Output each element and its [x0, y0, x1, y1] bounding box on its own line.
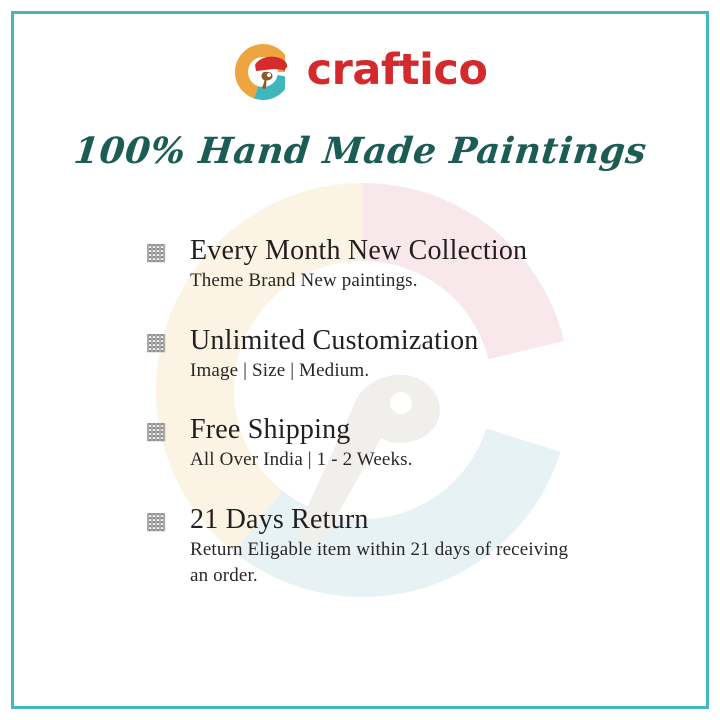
page-title-text: 100% Hand Made Paintings — [72, 130, 649, 172]
list-item: Free Shipping All Over India | 1 - 2 Wee… — [146, 413, 616, 473]
brand-header: craftico — [0, 34, 720, 110]
list-item-subtitle: Theme Brand New paintings. — [190, 268, 570, 294]
list-item-subtitle: Return Eligable item within 21 days of r… — [190, 537, 570, 588]
woven-grid-square-icon — [146, 333, 166, 353]
woven-grid-square-icon — [146, 243, 166, 263]
list-item-title: Unlimited Customization — [190, 324, 616, 357]
list-item-title: 21 Days Return — [190, 503, 616, 536]
list-item-title: Free Shipping — [190, 413, 616, 446]
list-item: Every Month New Collection Theme Brand N… — [146, 234, 616, 294]
list-item-subtitle: All Over India | 1 - 2 Weeks. — [190, 447, 570, 473]
list-item-title: Every Month New Collection — [190, 234, 616, 267]
woven-grid-square-icon — [146, 422, 166, 442]
poster-canvas: craftico 100% Hand Made Paintings — [0, 0, 720, 720]
woven-grid-square-icon — [146, 512, 166, 532]
list-item: Unlimited Customization Image | Size | M… — [146, 324, 616, 384]
craftico-c-brush-logo-icon — [233, 42, 293, 102]
list-item: 21 Days Return Return Eligable item with… — [146, 503, 616, 588]
brand-wordmark: craftico — [307, 49, 488, 96]
feature-list: Every Month New Collection Theme Brand N… — [146, 234, 616, 588]
page-title: 100% Hand Made Paintings — [0, 130, 720, 172]
list-item-subtitle: Image | Size | Medium. — [190, 358, 570, 384]
